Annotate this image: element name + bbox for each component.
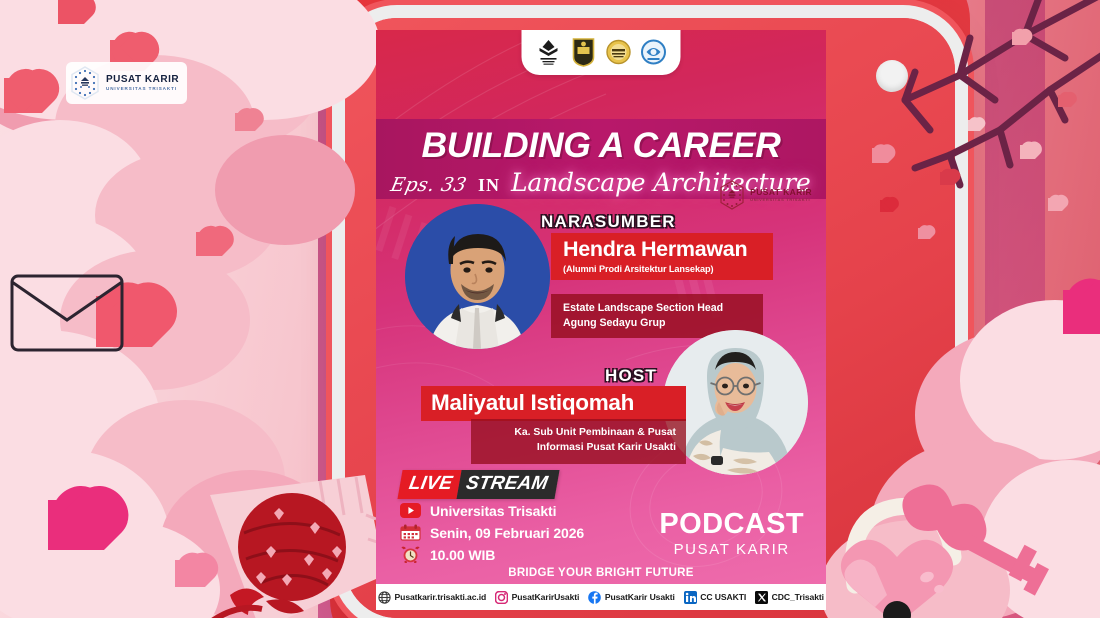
host-role-line1: Ka. Sub Unit Pembinaan & Pusat xyxy=(481,426,676,441)
speaker-role-line2: Agung Sedayu Grup xyxy=(563,316,753,331)
calendar-icon xyxy=(400,524,421,541)
live-stream-badge: LIVE STREAM xyxy=(397,470,560,499)
heart-shape xyxy=(235,113,255,131)
event-info-list: Universitas Trisakti xyxy=(400,502,584,568)
speaker-name-box: Hendra Hermawan (Alumni Prodi Arsitektur… xyxy=(551,233,773,280)
info-row-channel: Universitas Trisakti xyxy=(400,502,584,519)
hexagon-dot-logo-icon xyxy=(70,66,100,100)
accreditation-badges xyxy=(522,30,681,75)
trisakti-crest-badge xyxy=(536,37,562,67)
heart-shape xyxy=(4,78,42,113)
social-item-website[interactable]: Pusatkarir.trisakti.ac.id xyxy=(378,591,486,604)
facebook-icon xyxy=(588,591,601,604)
host-role-line2: Informasi Pusat Karir Usakti xyxy=(481,441,676,456)
host-role-box: Ka. Sub Unit Pembinaan & Pusat Informasi… xyxy=(471,419,686,464)
info-text-channel: Universitas Trisakti xyxy=(430,503,556,519)
blue-circle-badge xyxy=(641,37,667,67)
speaker-label: NARASUMBER xyxy=(541,212,676,232)
social-item-linkedin[interactable]: CC USAKTI xyxy=(684,591,746,604)
connector-label: IN xyxy=(478,175,500,196)
event-poster: BUILDING A CAREER Eps. 33 IN Landscape A… xyxy=(376,30,826,610)
heart-shape xyxy=(1012,32,1026,45)
social-handle-x: CDC_Trisakti xyxy=(772,592,824,602)
heart-shape xyxy=(940,172,954,185)
watermark-title: PUSAT KARIR xyxy=(106,75,179,85)
heart-shape xyxy=(880,200,893,212)
episode-label: Eps. 33 xyxy=(389,174,469,196)
watermark-subtitle: UNIVERSITAS TRISAKTI xyxy=(106,87,179,92)
poster-logo-subtitle: UNIVERSITAS TRISAKTI xyxy=(750,198,812,202)
stream-label: STREAM xyxy=(456,470,560,499)
cloud-shape xyxy=(215,135,355,245)
host-name: Maliyatul Istiqomah xyxy=(431,392,676,415)
info-row-date: Senin, 09 Februari 2026 xyxy=(400,524,584,541)
host-label: HOST xyxy=(605,366,657,386)
heart-shape xyxy=(48,500,104,550)
social-handle-facebook: PusatKarir Usakti xyxy=(605,592,675,602)
info-text-date: Senin, 09 Februari 2026 xyxy=(430,525,584,541)
x-twitter-icon xyxy=(755,591,768,604)
social-bar: Pusatkarir.trisakti.ac.id PusatKarirUsak… xyxy=(376,584,826,610)
poster-screenshot: PUSAT KARIR UNIVERSITAS TRISAKTI xyxy=(0,0,1100,618)
social-item-facebook[interactable]: PusatKarir Usakti xyxy=(588,591,674,604)
heart-shape xyxy=(196,232,222,256)
speaker-name: Hendra Hermawan xyxy=(563,239,763,261)
poster-logo-title: PUSAT KARIR xyxy=(750,188,812,197)
tagline: BRIDGE YOUR BRIGHT FUTURE xyxy=(376,567,826,579)
hexagon-dot-logo-icon xyxy=(719,180,745,210)
alarm-clock-icon xyxy=(400,546,421,563)
social-item-instagram[interactable]: PusatKarirUsakti xyxy=(495,591,579,604)
poster-title: BUILDING A CAREER xyxy=(376,119,826,164)
heart-shape xyxy=(872,148,888,163)
globe-icon xyxy=(378,591,391,604)
heart-shape xyxy=(918,228,930,239)
heart-shape xyxy=(58,0,84,24)
dark-shield-badge xyxy=(571,37,597,67)
poster-logo: PUSAT KARIR UNIVERSITAS TRISAKTI xyxy=(719,180,812,210)
envelope-icon xyxy=(8,268,128,358)
heart-shape xyxy=(1058,95,1071,107)
watermark-logo: PUSAT KARIR UNIVERSITAS TRISAKTI xyxy=(66,62,187,104)
rose-bouquet-icon xyxy=(170,455,390,618)
live-label: LIVE xyxy=(397,470,461,499)
podcast-subtitle: PUSAT KARIR xyxy=(659,541,804,558)
heart-shape xyxy=(1048,198,1062,211)
social-handle-website: Pusatkarir.trisakti.ac.id xyxy=(395,592,487,602)
speaker-photo xyxy=(405,204,550,349)
social-handle-instagram: PusatKarirUsakti xyxy=(512,592,580,602)
speaker-alumni: (Alumni Prodi Arsitektur Lansekap) xyxy=(563,264,763,274)
heart-shape xyxy=(1020,145,1035,159)
podcast-title: PODCAST xyxy=(659,510,804,539)
info-text-time: 10.00 WIB xyxy=(430,547,495,563)
host-name-box: Maliyatul Istiqomah xyxy=(421,386,686,421)
heart-shape xyxy=(968,120,980,131)
podcast-block: PODCAST PUSAT KARIR xyxy=(659,510,804,558)
youtube-icon xyxy=(400,502,421,519)
speaker-role-line1: Estate Landscape Section Head xyxy=(563,301,753,316)
instagram-icon xyxy=(495,591,508,604)
gold-seal-badge xyxy=(606,37,632,67)
heart-padlock-icon xyxy=(835,465,1065,618)
info-row-time: 10.00 WIB xyxy=(400,546,584,563)
social-item-x[interactable]: CDC_Trisakti xyxy=(755,591,824,604)
heart-shape xyxy=(1063,290,1100,334)
linkedin-icon xyxy=(684,591,697,604)
social-handle-linkedin: CC USAKTI xyxy=(700,592,746,602)
